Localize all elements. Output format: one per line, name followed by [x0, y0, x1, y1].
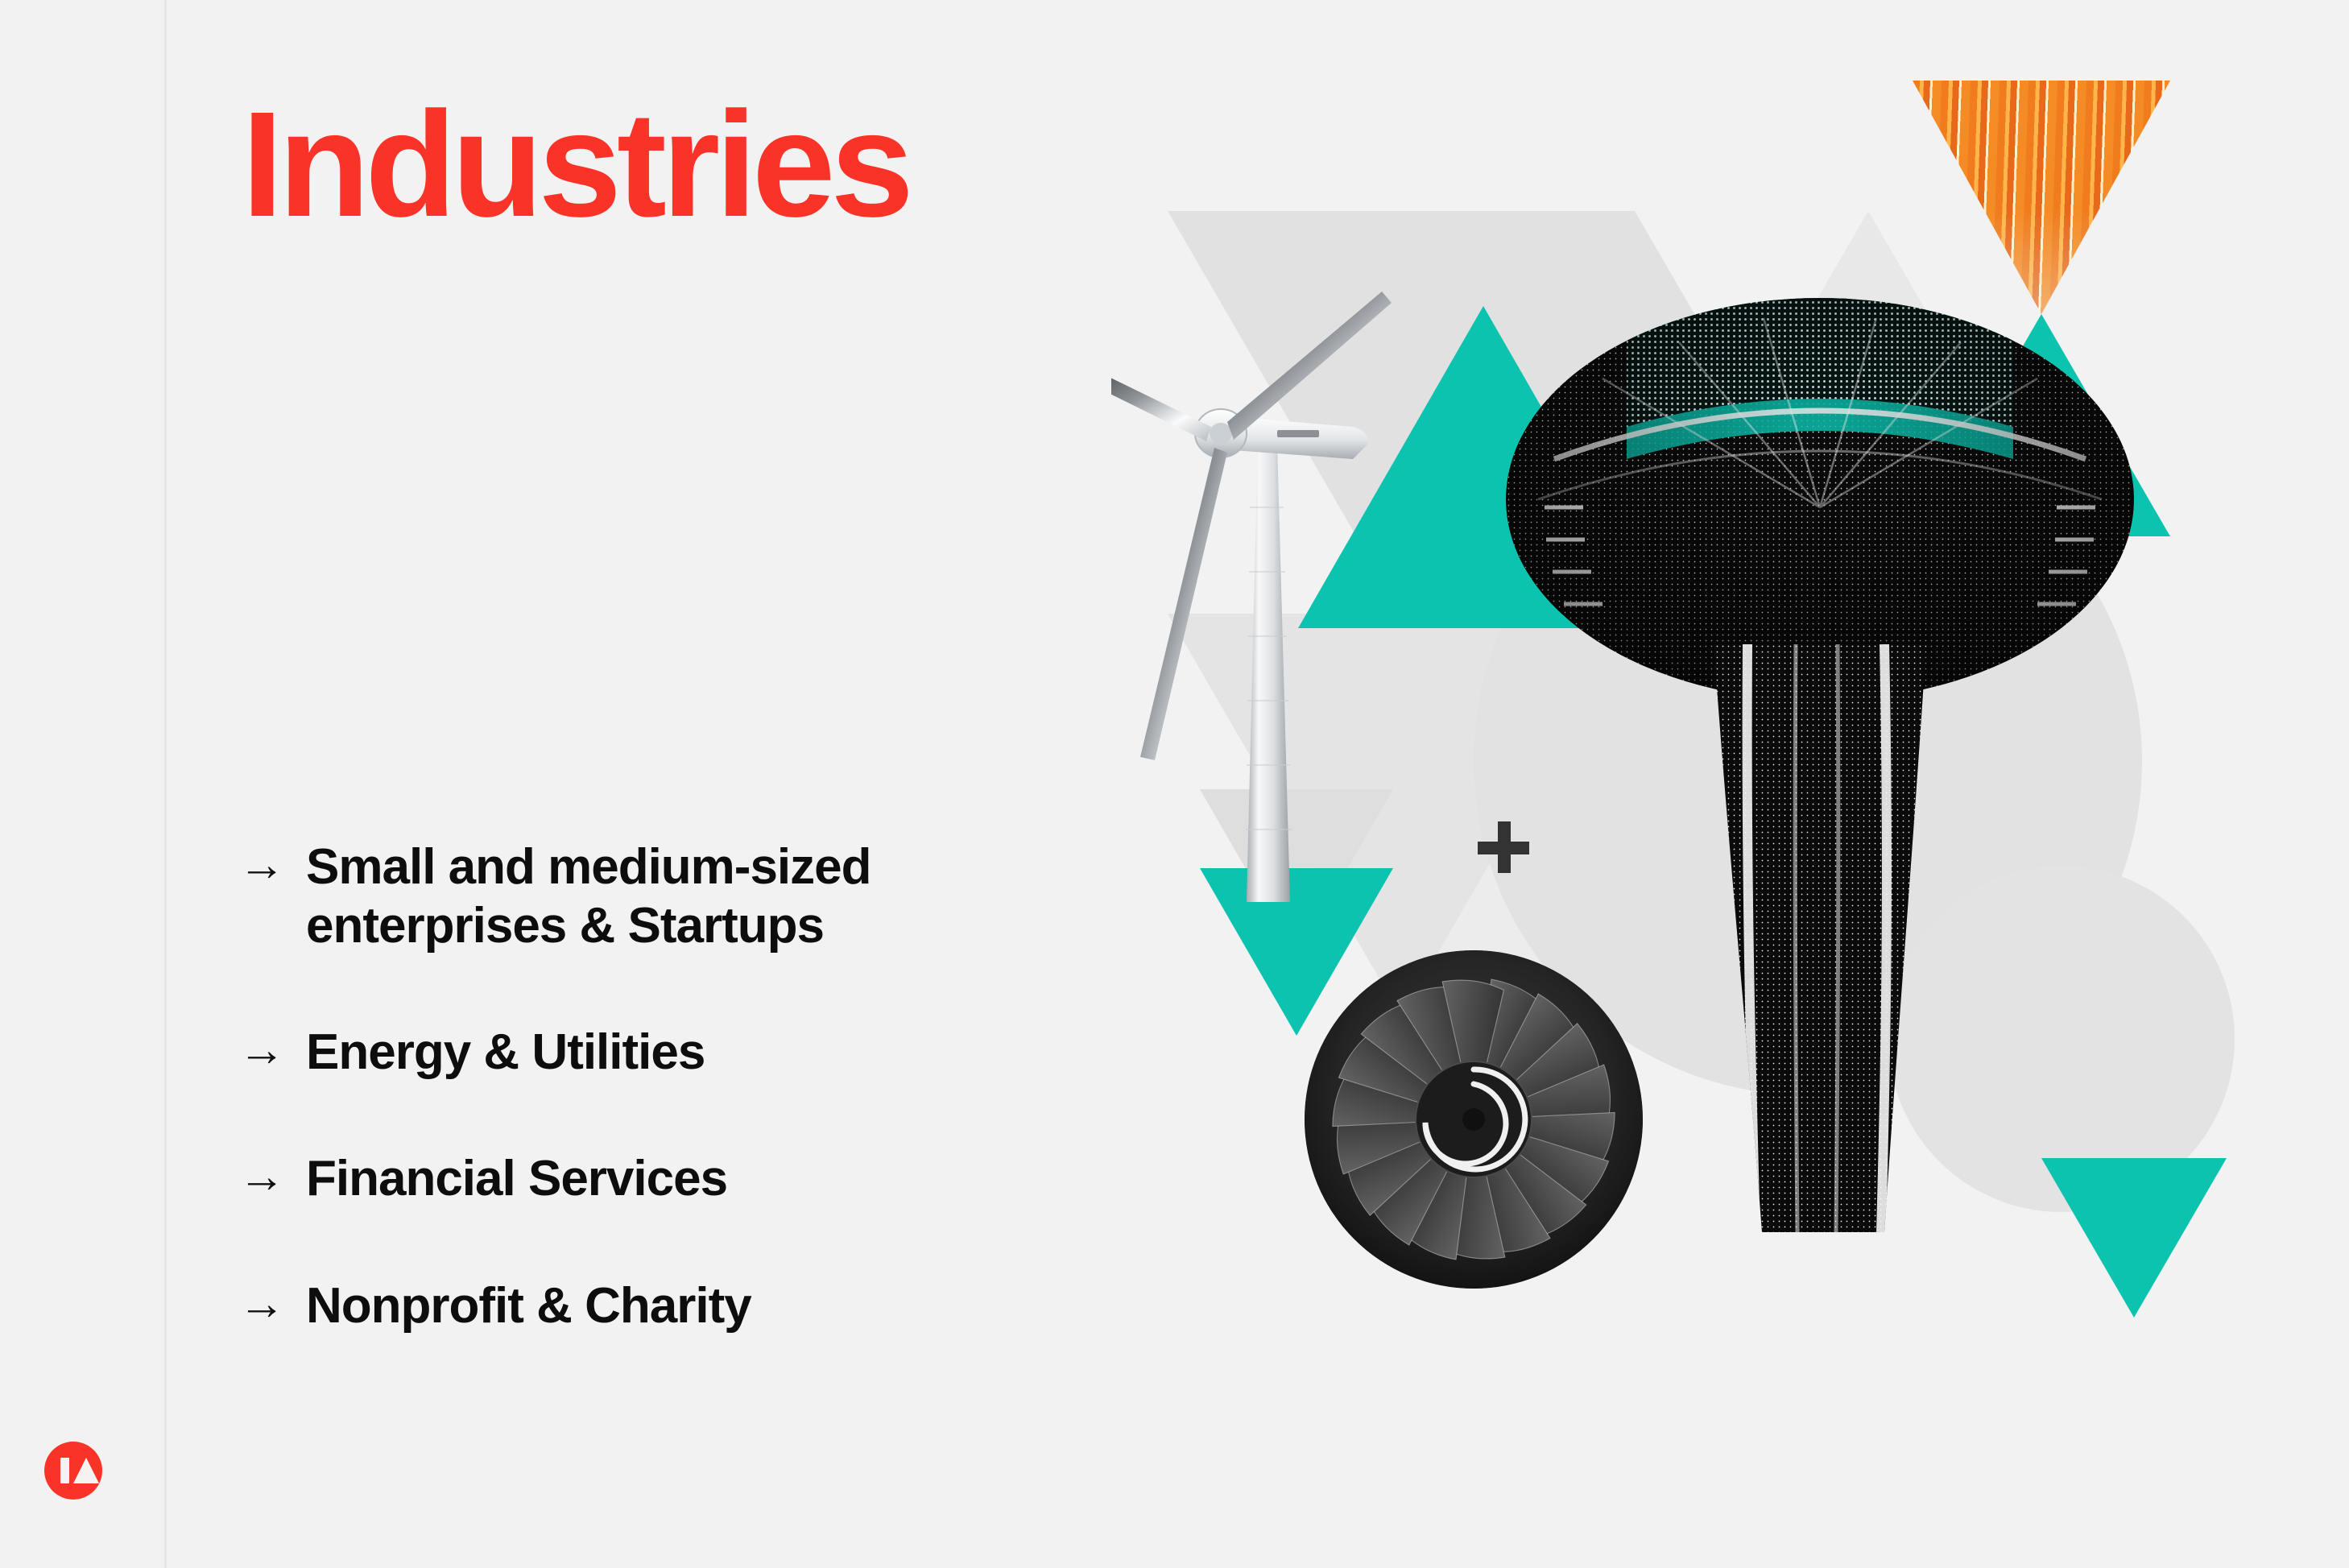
page-title: Industries — [242, 90, 909, 240]
list-item[interactable]: → Nonprofit & Charity — [238, 1276, 1068, 1335]
arrow-right-icon: → — [238, 1276, 306, 1331]
collage-graphic — [1039, 0, 2349, 1568]
arrow-right-icon: → — [238, 838, 306, 892]
jet-engine-fan-image — [1305, 950, 1643, 1289]
list-item-label: Nonprofit & Charity — [306, 1276, 751, 1335]
list-item[interactable]: → Small and medium-sized enterprises & S… — [238, 838, 1068, 955]
logo-bar-shape — [60, 1458, 69, 1483]
arrow-right-icon: → — [238, 1023, 306, 1078]
slide-industries: Industries → Small and medium-sized ente… — [0, 0, 2349, 1568]
list-item-label: Energy & Utilities — [306, 1023, 705, 1082]
list-item[interactable]: → Energy & Utilities — [238, 1023, 1068, 1082]
left-rail — [0, 0, 167, 1568]
wind-turbine-image — [1111, 242, 1450, 910]
list-item-label: Small and medium-sized enterprises & Sta… — [306, 838, 1068, 955]
logo-triangle-shape — [73, 1458, 99, 1483]
arrow-right-icon: → — [238, 1149, 306, 1204]
industries-list: → Small and medium-sized enterprises & S… — [238, 838, 1068, 1335]
brand-logo-icon — [44, 1442, 102, 1500]
list-item-label: Financial Services — [306, 1149, 727, 1208]
list-item[interactable]: → Financial Services — [238, 1149, 1068, 1208]
plus-icon — [1478, 821, 1529, 873]
